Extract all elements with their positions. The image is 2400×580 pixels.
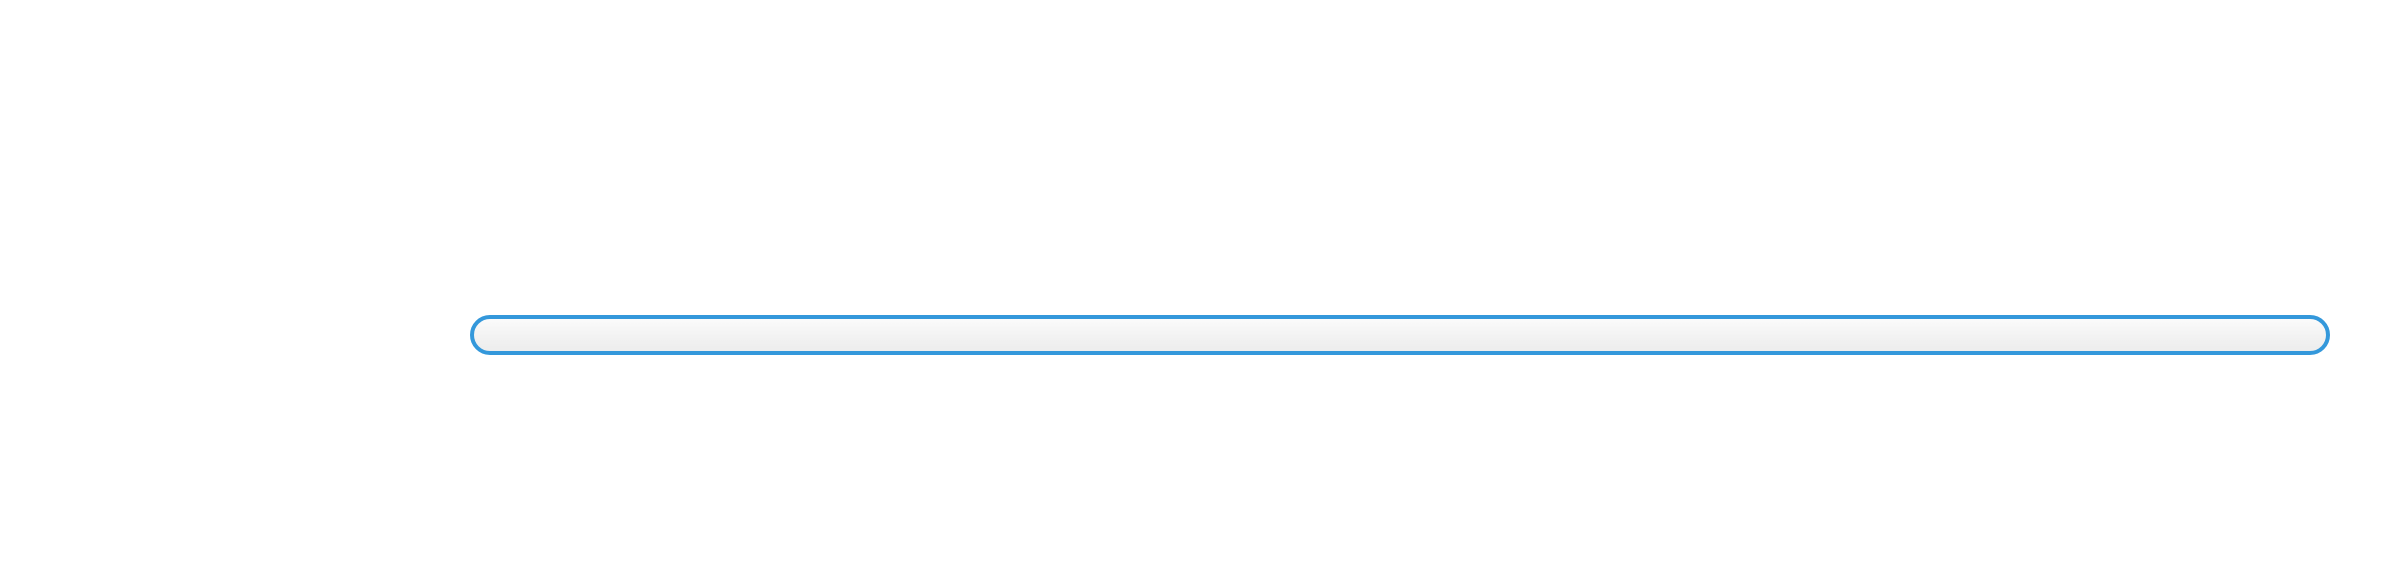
phylostratum-track[interactable]: [470, 315, 2330, 355]
timeline-container: [0, 0, 2400, 580]
phylostratigraphy-figure: [0, 0, 2400, 580]
